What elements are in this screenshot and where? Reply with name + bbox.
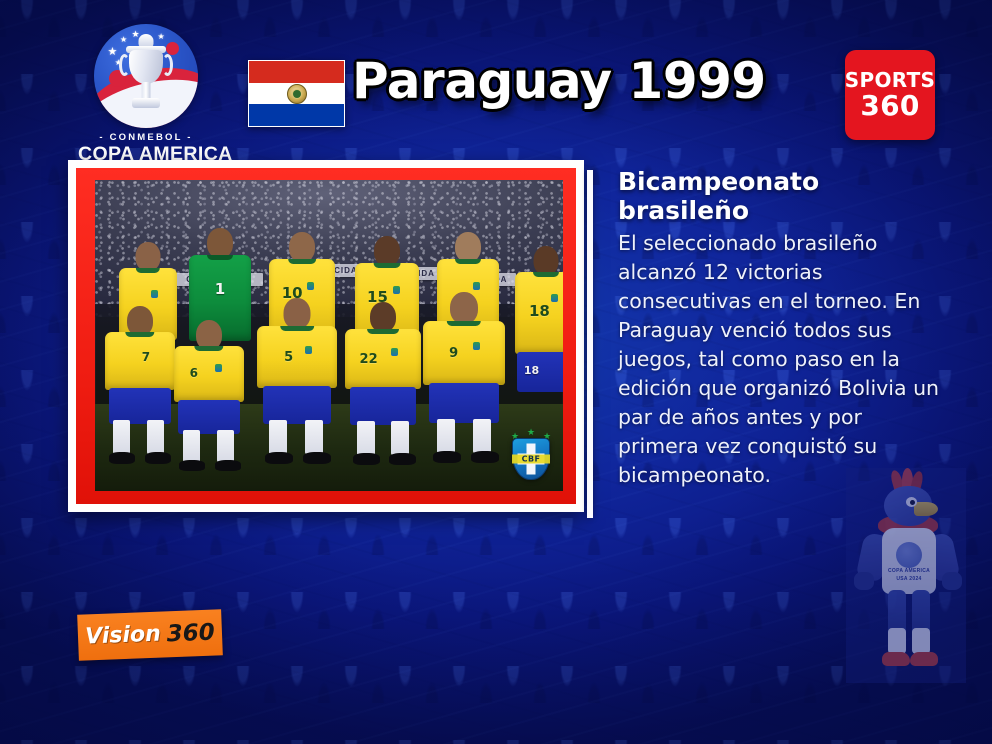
vertical-divider xyxy=(587,170,593,518)
jersey-number: 9 xyxy=(449,346,458,361)
team-photo-frame: CAMISA 12 TORCIDA TORCIDA TORCIDA 1 xyxy=(68,160,584,512)
jersey-number: 6 xyxy=(190,366,198,380)
player-number-18: 18 18 xyxy=(513,246,563,396)
flag-band-blue xyxy=(249,104,344,126)
cbf-label: CBF xyxy=(522,455,541,464)
copa-america-trophy-icon: ★ ★ ★ ★ ★ xyxy=(94,24,198,128)
cbf-shield: CBF xyxy=(512,438,550,480)
cbf-star-icon: ★ xyxy=(527,428,535,437)
page-title: Paraguay 1999 xyxy=(352,56,872,106)
flag-band-red xyxy=(249,61,344,83)
paraguay-flag-icon xyxy=(248,60,345,127)
player-number-9: 9 xyxy=(421,292,507,470)
jersey-number: 1 xyxy=(215,280,225,298)
trophy-cup-shape xyxy=(126,34,166,116)
player-number-5: 5 xyxy=(255,298,339,470)
copa-america-logo: ★ ★ ★ ★ ★ - CONMEBOL - COPA AMERICA USA … xyxy=(78,24,214,180)
team-photo-image: CAMISA 12 TORCIDA TORCIDA TORCIDA 1 xyxy=(95,180,563,491)
cbf-badge-icon: ★ ★ ★ CBF xyxy=(509,428,553,480)
article-heading: Bicampeonato brasileño xyxy=(618,168,948,226)
copa-america-mascot-icon: COPA AMERICA USA 2024 xyxy=(846,468,966,683)
shorts-number: 18 xyxy=(524,364,539,377)
player-number-7: 7 xyxy=(103,306,177,466)
sports360-line1: SPORTS xyxy=(845,70,935,90)
logo-star-icon: ★ xyxy=(108,47,118,58)
sports360-line2: 360 xyxy=(860,92,919,120)
jersey-number: 5 xyxy=(284,350,293,365)
vision360-word: Vision xyxy=(85,624,161,649)
photo-red-border: CAMISA 12 TORCIDA TORCIDA TORCIDA 1 xyxy=(76,168,576,504)
vision360-logo: Vision 360 xyxy=(77,609,223,660)
jersey-number: 18 xyxy=(529,302,550,320)
conmebol-label: - CONMEBOL - xyxy=(78,132,214,143)
vision360-number: 360 xyxy=(166,621,215,646)
player-number-6: 6 xyxy=(171,320,247,472)
paraguay-coat-of-arms-icon xyxy=(287,84,307,104)
jersey-number: 22 xyxy=(360,352,378,367)
article-panel: Bicampeonato brasileño El seleccionado b… xyxy=(618,168,948,490)
jersey-number: 7 xyxy=(142,350,150,364)
logo-red-dot-right xyxy=(166,42,179,55)
article-body: El seleccionado brasileño alcanzó 12 vic… xyxy=(618,229,948,491)
sports360-logo: SPORTS 360 xyxy=(845,50,935,140)
player-number-22: 22 xyxy=(343,302,423,470)
